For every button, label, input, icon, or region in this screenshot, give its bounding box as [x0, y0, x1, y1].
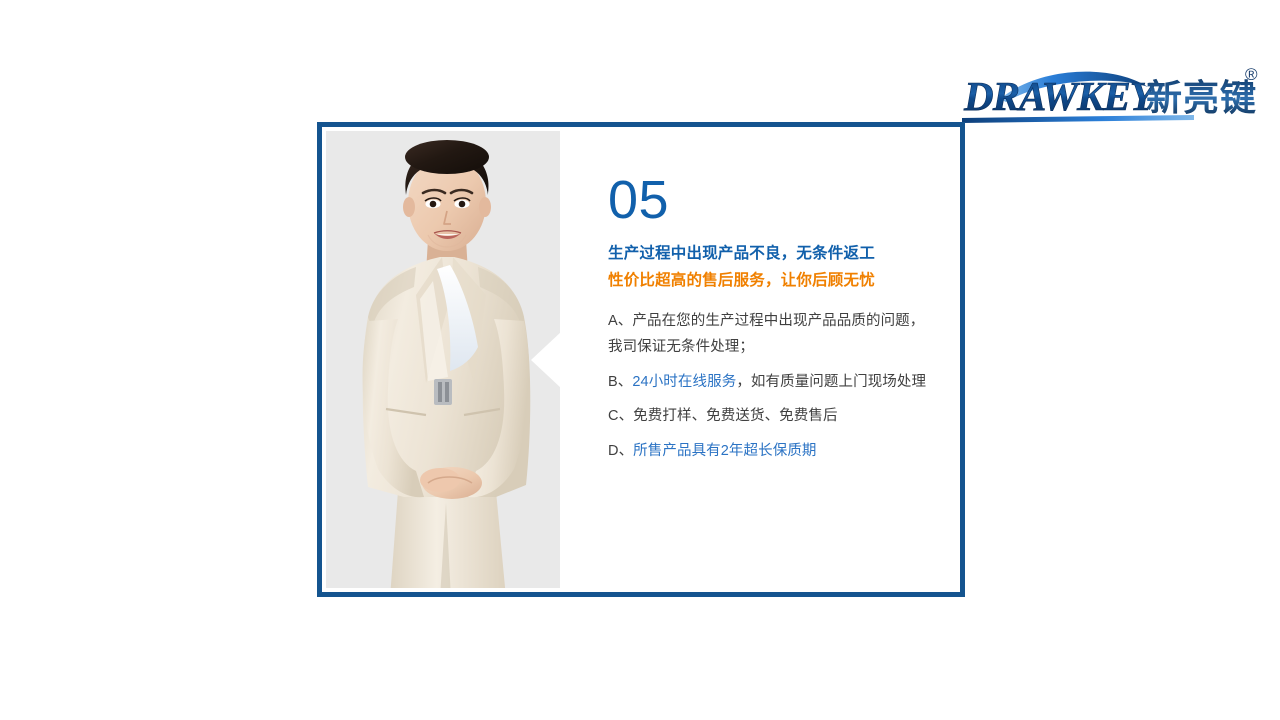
detail-marker: C、: [608, 408, 633, 424]
detail-list: A、产品在您的生产过程中出现产品品质的问题，我司保证无条件处理； B、24小时在…: [608, 309, 938, 465]
detail-marker: D、: [608, 443, 633, 459]
brand-logo: DRAWKEY 新亮键 ®: [962, 58, 1264, 128]
photo-panel: [326, 131, 560, 588]
section-number: 05: [608, 173, 938, 227]
card-inner: 05 生产过程中出现产品不良，无条件返工 性价比超高的售后服务，让你后顾无忧 A…: [322, 127, 960, 592]
list-item: C、免费打样、免费送货、免费售后: [608, 404, 938, 430]
detail-text-after: ，如有质量问题上门现场处理: [736, 374, 926, 390]
detail-text: 产品在您的生产过程中出现产品品质的问题，我司保证无条件处理；: [608, 313, 924, 355]
headline-secondary: 性价比超高的售后服务，让你后顾无忧: [608, 270, 938, 292]
detail-marker: A、: [608, 313, 632, 329]
person-photo: [326, 131, 560, 588]
detail-highlight: 所售产品具有2年超长保质期: [633, 443, 816, 459]
text-panel: 05 生产过程中出现产品不良，无条件返工 性价比超高的售后服务，让你后顾无忧 A…: [560, 131, 956, 588]
trademark-icon: ®: [1245, 65, 1258, 84]
brand-name-cn: 新亮键: [1146, 78, 1257, 119]
detail-highlight: 24小时在线服务: [632, 374, 736, 390]
list-item: A、产品在您的生产过程中出现产品品质的问题，我司保证无条件处理；: [608, 309, 938, 361]
list-item: B、24小时在线服务，如有质量问题上门现场处理: [608, 370, 938, 396]
brand-name-en: DRAWKEY: [963, 73, 1159, 119]
detail-text: 免费打样、免费送货、免费售后: [633, 408, 837, 424]
list-item: D、所售产品具有2年超长保质期: [608, 439, 938, 465]
content-card: 05 生产过程中出现产品不良，无条件返工 性价比超高的售后服务，让你后顾无忧 A…: [317, 122, 965, 597]
detail-marker: B、: [608, 374, 632, 390]
headline-primary: 生产过程中出现产品不良，无条件返工: [608, 243, 938, 265]
